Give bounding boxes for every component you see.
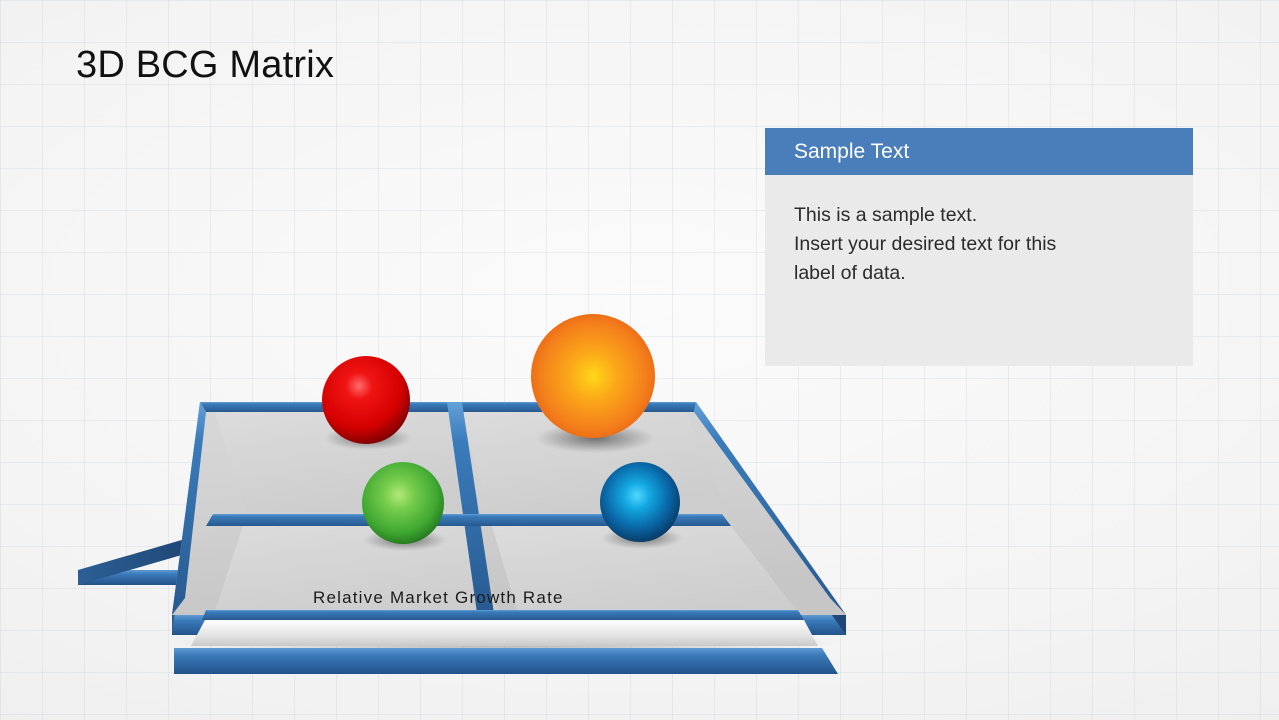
bcg-matrix-diagram: Relative Market Share <box>0 290 920 690</box>
matrix-main-plate: Relative Market Growth Rate <box>172 402 846 680</box>
matrix-svg: Relative Market Share <box>0 290 920 690</box>
callout-body-line: label of data. <box>794 259 1164 288</box>
bubble-red[interactable] <box>322 356 412 450</box>
callout-header-bar: Sample Text <box>765 128 1193 175</box>
bubble-sphere <box>531 314 655 438</box>
x-axis-label: Relative Market Growth Rate <box>313 588 564 607</box>
bubble-sphere <box>600 462 680 542</box>
bubble-sphere <box>322 356 410 444</box>
page-title: 3D BCG Matrix <box>76 44 334 87</box>
callout-body-line: This is a sample text. <box>794 201 1164 230</box>
callout-header-title: Sample Text <box>765 140 909 164</box>
bubble-sphere <box>362 462 444 544</box>
bubble-orange[interactable] <box>531 314 655 453</box>
callout-body-line: Insert your desired text for this <box>794 230 1164 259</box>
